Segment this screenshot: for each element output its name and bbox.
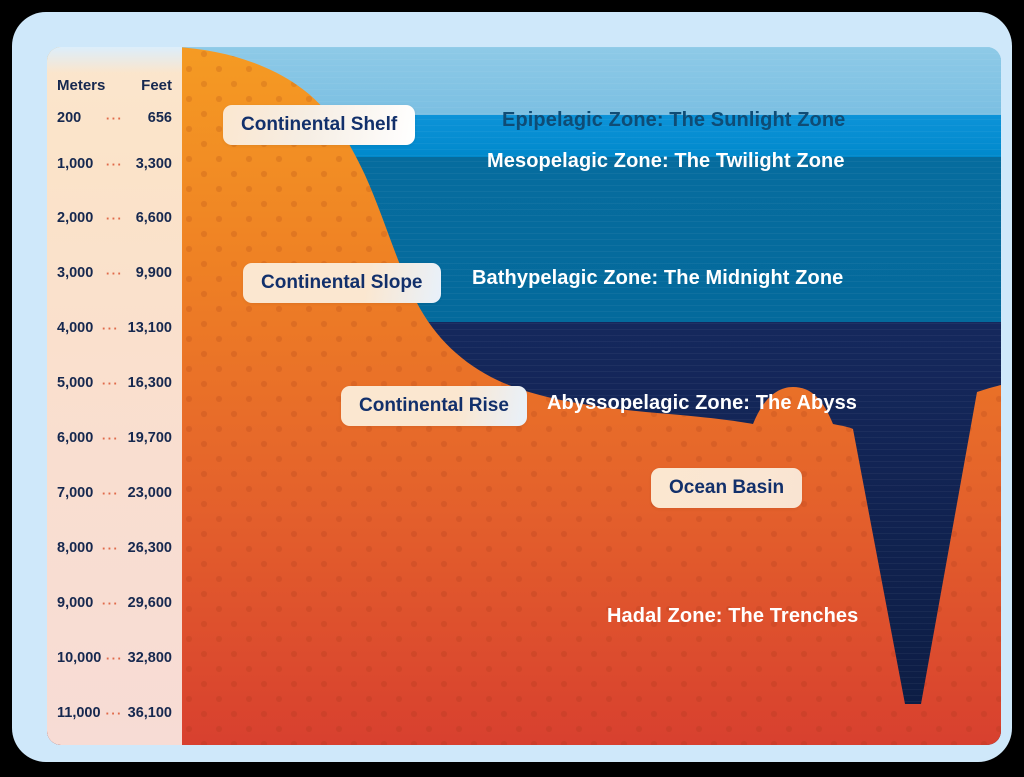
- scale-row-feet: 6,600: [136, 210, 172, 226]
- scale-row-dots: ···: [100, 541, 121, 556]
- scale-row-meters: 2,000: [57, 210, 93, 226]
- scale-row-dots: ···: [104, 651, 125, 666]
- scale-row-feet: 13,100: [128, 320, 172, 336]
- scale-row-dots: ···: [104, 266, 125, 281]
- scale-row-dots: ···: [104, 706, 125, 721]
- scale-row-feet: 23,000: [128, 485, 172, 501]
- scale-row: 9,000···29,600: [47, 595, 182, 611]
- scale-row-meters: 11,000: [57, 705, 101, 721]
- scale-row-meters: 200: [57, 110, 81, 126]
- scale-row-dots: ···: [100, 431, 121, 446]
- scale-row: 11,000···36,100: [47, 705, 182, 721]
- scale-row-feet: 16,300: [128, 375, 172, 391]
- scale-panel-top-fade: [47, 47, 182, 73]
- scale-row: 3,000···9,900: [47, 265, 182, 281]
- feature-label-ocean-basin: Ocean Basin: [651, 468, 802, 508]
- scale-row: 10,000···32,800: [47, 650, 182, 666]
- diagram-frame: Epipelagic Zone: The Sunlight Zone Mesop…: [12, 12, 1012, 762]
- scale-row-dots: ···: [104, 111, 125, 126]
- scale-row-dots: ···: [100, 596, 121, 611]
- scale-row-dots: ···: [104, 211, 125, 226]
- zone-label-abyssopelagic: Abyssopelagic Zone: The Abyss: [547, 392, 857, 415]
- scale-row-meters: 3,000: [57, 265, 93, 281]
- scale-row-feet: 36,100: [128, 705, 172, 721]
- scale-header-meters: Meters: [57, 77, 105, 94]
- depth-scale-panel: Meters Feet 200···6561,000···3,3002,000·…: [47, 47, 182, 745]
- scale-row-dots: ···: [100, 321, 121, 336]
- scale-row-meters: 8,000: [57, 540, 93, 556]
- scale-row-meters: 6,000: [57, 430, 93, 446]
- scale-header-feet: Feet: [141, 77, 172, 94]
- scale-row-meters: 9,000: [57, 595, 93, 611]
- scale-row: 5,000···16,300: [47, 375, 182, 391]
- scale-row: 6,000···19,700: [47, 430, 182, 446]
- feature-label-continental-rise: Continental Rise: [341, 386, 527, 426]
- scale-row-meters: 10,000: [57, 650, 101, 666]
- scale-row-meters: 7,000: [57, 485, 93, 501]
- zone-label-bathypelagic: Bathypelagic Zone: The Midnight Zone: [472, 267, 843, 290]
- scale-row-feet: 32,800: [128, 650, 172, 666]
- scale-row: 4,000···13,100: [47, 320, 182, 336]
- feature-label-continental-slope: Continental Slope: [243, 263, 441, 303]
- zone-label-hadal: Hadal Zone: The Trenches: [607, 605, 858, 628]
- scale-row-dots: ···: [100, 376, 121, 391]
- scale-row: 1,000···3,300: [47, 156, 182, 172]
- scale-row-meters: 5,000: [57, 375, 93, 391]
- zone-label-mesopelagic: Mesopelagic Zone: The Twilight Zone: [487, 150, 845, 173]
- scale-row-feet: 656: [148, 110, 172, 126]
- scale-row-feet: 19,700: [128, 430, 172, 446]
- scale-row: 7,000···23,000: [47, 485, 182, 501]
- zone-label-epipelagic: Epipelagic Zone: The Sunlight Zone: [502, 109, 845, 132]
- scale-row-meters: 1,000: [57, 156, 93, 172]
- scale-row-meters: 4,000: [57, 320, 93, 336]
- scale-header-row: Meters Feet: [47, 77, 182, 94]
- scale-row: 2,000···6,600: [47, 210, 182, 226]
- scale-row: 8,000···26,300: [47, 540, 182, 556]
- scale-row-feet: 9,900: [136, 265, 172, 281]
- scale-row-feet: 3,300: [136, 156, 172, 172]
- scale-row-feet: 26,300: [128, 540, 172, 556]
- scale-row-dots: ···: [100, 486, 121, 501]
- feature-label-continental-shelf: Continental Shelf: [223, 105, 415, 145]
- scale-row-feet: 29,600: [128, 595, 172, 611]
- ocean-diagram-canvas: Epipelagic Zone: The Sunlight Zone Mesop…: [47, 47, 1001, 745]
- scale-row: 200···656: [47, 110, 182, 126]
- scale-row-dots: ···: [104, 157, 125, 172]
